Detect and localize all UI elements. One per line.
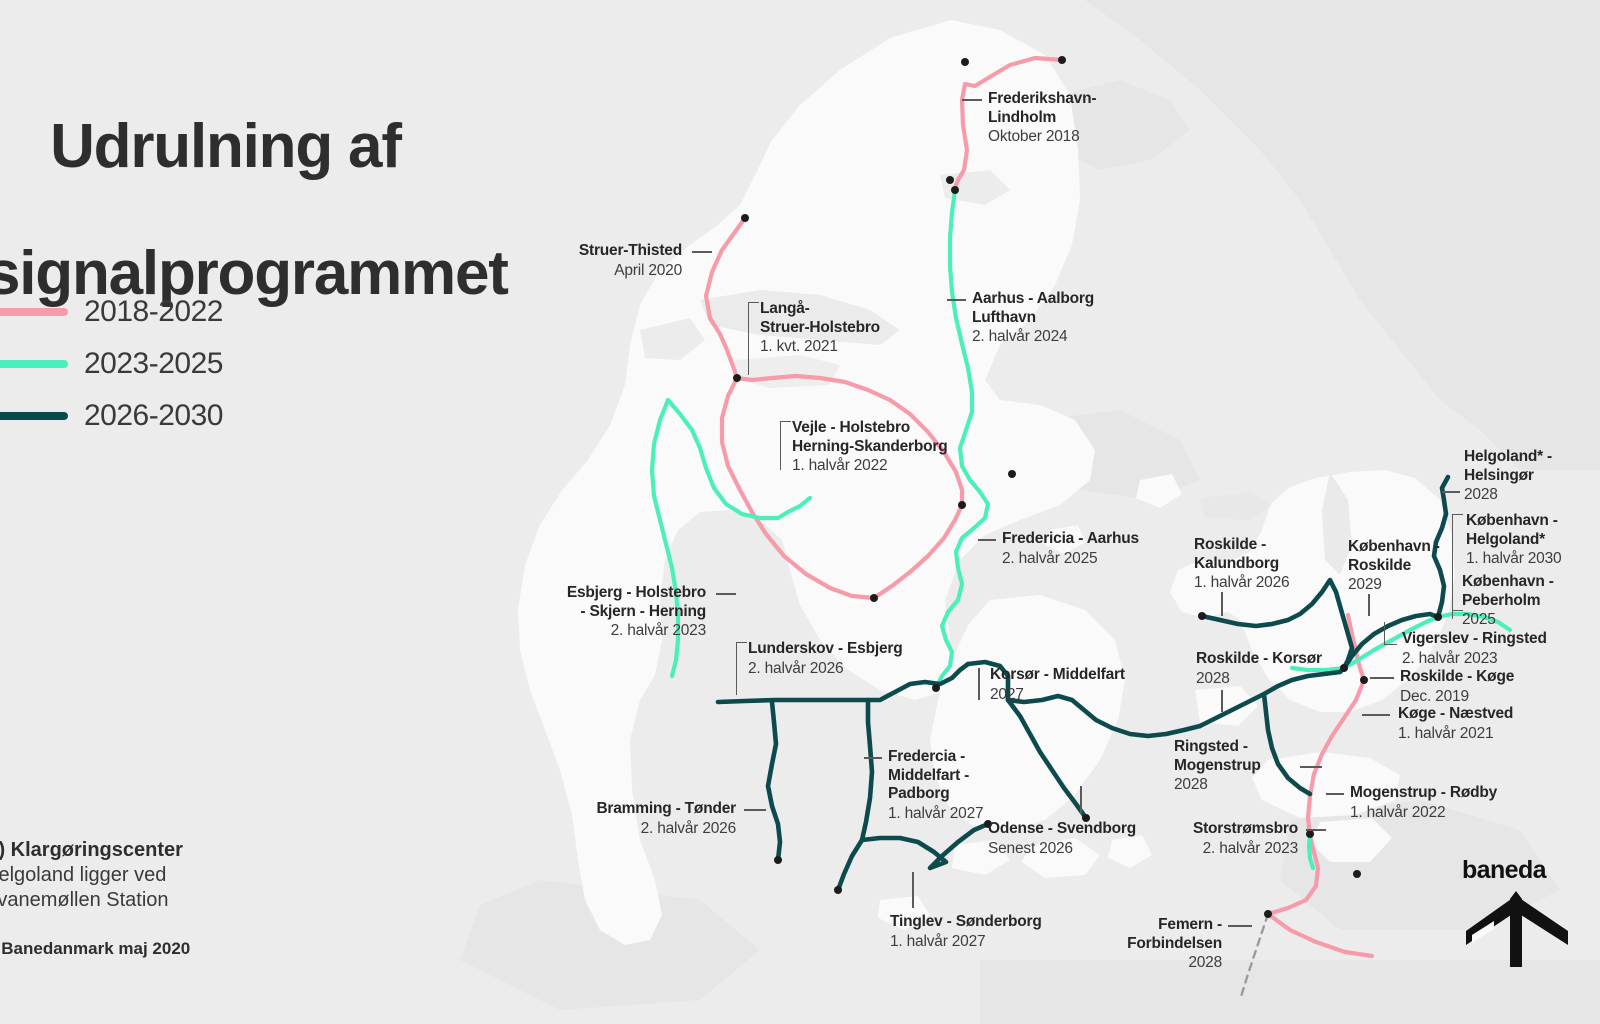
- leader-line: [1306, 829, 1326, 831]
- legend-item-2023-2025[interactable]: 2023-2025: [0, 338, 223, 390]
- callout-date: 2. halvår 2023: [1148, 839, 1298, 858]
- leader-line: [1228, 925, 1252, 927]
- callout-name-2: Lufthavn: [972, 309, 1094, 328]
- leader-line: [1221, 690, 1223, 712]
- footnote-line-1: Helgoland ligger ved: [0, 863, 190, 888]
- logo-wordmark: baneda: [1462, 856, 1584, 885]
- callout-date: 2028: [1092, 953, 1222, 972]
- logo-word-light: da: [1518, 856, 1546, 884]
- callout-name-2: Lindholm: [988, 109, 1096, 128]
- callout-date: 2027: [990, 685, 1125, 704]
- callout-name-2: Helgoland*: [1466, 531, 1561, 550]
- callout-date: 2. halvår 2024: [972, 327, 1094, 346]
- callout-name: Helgoland* -: [1464, 448, 1552, 467]
- callout-koebenhavn-roskilde[interactable]: København - Roskilde 2029: [1348, 538, 1440, 595]
- callout-fredericia-aarhus[interactable]: Fredericia - Aarhus 2. halvår 2025: [1002, 530, 1139, 568]
- callout-name: Fredericia - Aarhus: [1002, 530, 1139, 549]
- leader-line: [1362, 714, 1390, 716]
- callout-name: Vigerslev - Ringsted: [1402, 630, 1547, 649]
- callout-name: Mogenstrup - Rødby: [1350, 784, 1497, 803]
- callout-name: Roskilde - Korsør: [1196, 650, 1322, 669]
- route-fredercia-middelfart-padborg: [862, 700, 872, 840]
- callout-koege-naestved[interactable]: Køge - Næstved 1. halvår 2021: [1398, 705, 1513, 743]
- leader-line: [1326, 793, 1344, 795]
- callout-helgoland-helsingoer[interactable]: Helgoland* - Helsingør 2028: [1464, 448, 1552, 505]
- callout-name: Langå-: [760, 300, 880, 319]
- callout-name-2: Forbindelsen: [1092, 935, 1222, 954]
- leader-bracket: [748, 302, 759, 375]
- callout-name: Tinglev - Sønderborg: [890, 913, 1042, 932]
- callout-name: Bramming - Tønder: [586, 800, 736, 819]
- callout-storstroemsbro[interactable]: Storstrømsbro 2. halvår 2023: [1148, 820, 1298, 858]
- callout-date: 2028: [1174, 775, 1261, 794]
- callout-roskilde-koege[interactable]: Roskilde - Køge Dec. 2019: [1400, 668, 1514, 706]
- leader-line: [912, 872, 914, 908]
- callout-date: 1. halvår 2027: [888, 804, 983, 823]
- callout-name: Struer-Thisted: [572, 242, 682, 261]
- callout-date: 2. halvår 2025: [1002, 549, 1139, 568]
- callout-date: 2. halvår 2026: [748, 659, 902, 678]
- callout-date: Dec. 2019: [1400, 687, 1514, 706]
- callout-date: 1. halvår 2022: [1350, 803, 1497, 822]
- callout-name: Roskilde - Køge: [1400, 668, 1514, 687]
- callout-name: Ringsted -: [1174, 738, 1261, 757]
- callout-date: 2. halvår 2023: [556, 621, 706, 640]
- callout-name: Fredercia -: [888, 748, 983, 767]
- leader-line: [978, 539, 996, 541]
- callout-name: København -: [1462, 573, 1554, 592]
- callout-date: 1. halvår 2030: [1466, 549, 1561, 568]
- callout-ringsted-mogenstrup[interactable]: Ringsted - Mogenstrup 2028: [1174, 738, 1261, 795]
- leader-line: [1080, 786, 1082, 814]
- copyright-text: © Banedanmark maj 2020: [0, 939, 190, 959]
- leader-bracket: [736, 642, 747, 695]
- callout-date: 1. halvår 2022: [792, 456, 948, 475]
- callout-femern-forbindelsen[interactable]: Femern - Forbindelsen 2028: [1092, 916, 1222, 973]
- callout-aarhus-aalborg-lufthavn[interactable]: Aarhus - Aalborg Lufthavn 2. halvår 2024: [972, 290, 1094, 347]
- callout-date: Oktober 2018: [988, 127, 1096, 146]
- callout-roskilde-kalundborg[interactable]: Roskilde - Kalundborg 1. halvår 2026: [1194, 536, 1289, 593]
- callout-fredercia-middelfart-padborg[interactable]: Fredercia - Middelfart - Padborg 1. halv…: [888, 748, 983, 823]
- legend: 2018-2022 2023-2025 2026-2030: [0, 286, 223, 442]
- callout-name: Køge - Næstved: [1398, 705, 1513, 724]
- leader-line: [692, 251, 712, 253]
- legend-label-phase3: 2026-2030: [84, 399, 223, 433]
- callout-bramming-toender[interactable]: Bramming - Tønder 2. halvår 2026: [586, 800, 736, 838]
- callout-date: 2028: [1196, 669, 1322, 688]
- callout-langaa-struer-holstebro[interactable]: Langå- Struer-Holstebro 1. kvt. 2021: [760, 300, 880, 357]
- callout-date: 1. kvt. 2021: [760, 337, 880, 356]
- callout-struer-thisted[interactable]: Struer-Thisted April 2020: [572, 242, 682, 280]
- callout-vejle-holstebro[interactable]: Vejle - Holstebro Herning-Skanderborg 1.…: [792, 419, 948, 476]
- callout-lunderskov-esbjerg[interactable]: Lunderskov - Esbjerg 2. halvår 2026: [748, 640, 902, 678]
- footer-note: (*) Klargøringscenter Helgoland ligger v…: [0, 838, 190, 959]
- callout-name-2: Helsingør: [1464, 467, 1552, 486]
- callout-frederikshavn-lindholm[interactable]: Frederikshavn- Lindholm Oktober 2018: [988, 90, 1096, 147]
- callout-date: Senest 2026: [988, 839, 1136, 858]
- leader-line: [744, 809, 766, 811]
- legend-swatch-phase2: [0, 360, 68, 368]
- legend-item-2026-2030[interactable]: 2026-2030: [0, 390, 223, 442]
- callout-date: 2029: [1348, 575, 1440, 594]
- callout-name-2: Roskilde: [1348, 557, 1440, 576]
- callout-name: Odense - Svendborg: [988, 820, 1136, 839]
- callout-mogenstrup-roedby[interactable]: Mogenstrup - Rødby 1. halvår 2022: [1350, 784, 1497, 822]
- callout-name-2: Struer-Holstebro: [760, 319, 880, 338]
- legend-item-2018-2022[interactable]: 2018-2022: [0, 286, 223, 338]
- callout-name: Roskilde -: [1194, 536, 1289, 555]
- callout-koebenhavn-peberholm[interactable]: København - Peberholm 2025: [1462, 573, 1554, 630]
- callout-name-2: Mogenstrup: [1174, 757, 1261, 776]
- callout-koebenhavn-helgoland[interactable]: København - Helgoland* 1. halvår 2030: [1466, 512, 1561, 569]
- callout-name-3: Padborg: [888, 785, 983, 804]
- leader-line: [1221, 592, 1223, 616]
- callout-name: Vejle - Holstebro: [792, 419, 948, 438]
- infographic-canvas: .land{fill:#FAFAFA;} .land2{fill:#E6E6E6…: [0, 0, 1600, 1024]
- callout-name: Esbjerg - Holstebro: [556, 584, 706, 603]
- callout-date: 2025: [1462, 610, 1554, 629]
- footnote-line-2: Svanemøllen Station: [0, 888, 190, 913]
- leader-line: [1442, 491, 1460, 493]
- legend-swatch-phase1: [0, 308, 68, 316]
- leader-line: [947, 299, 966, 301]
- callout-name-2: Kalundborg: [1194, 555, 1289, 574]
- callout-esbjerg-holstebro[interactable]: Esbjerg - Holstebro - Skjern - Herning 2…: [556, 584, 706, 641]
- leader-line: [1300, 766, 1322, 768]
- callout-name: Frederikshavn-: [988, 90, 1096, 109]
- legend-label-phase2: 2023-2025: [84, 347, 223, 381]
- callout-korsoer-middelfart[interactable]: Korsør - Middelfart 2027: [990, 666, 1125, 704]
- legend-label-phase1: 2018-2022: [84, 295, 223, 329]
- callout-tinglev-soenderborg[interactable]: Tinglev - Sønderborg 1. halvår 2027: [890, 913, 1042, 951]
- legend-swatch-phase3: [0, 412, 68, 420]
- route-tinglev-soenderborg: [838, 840, 862, 890]
- leader-line: [962, 99, 982, 101]
- leader-line: [716, 593, 736, 595]
- leader-bracket: [1452, 610, 1463, 619]
- title-line-1: Udrulning af: [50, 112, 401, 181]
- callout-date: 1. halvår 2021: [1398, 724, 1513, 743]
- callout-name: København -: [1348, 538, 1440, 557]
- callout-date: 1. halvår 2027: [890, 932, 1042, 951]
- callout-date: 2028: [1464, 485, 1552, 504]
- route-bramming-toender: [768, 702, 780, 860]
- callout-roskilde-korsoer[interactable]: Roskilde - Korsør 2028: [1196, 650, 1322, 688]
- callout-name: København -: [1466, 512, 1561, 531]
- callout-name: Storstrømsbro: [1148, 820, 1298, 839]
- leader-bracket: [780, 421, 791, 470]
- leader-line: [1368, 594, 1370, 616]
- callout-date: 1. halvår 2026: [1194, 573, 1289, 592]
- callout-name-2: Middelfart -: [888, 767, 983, 786]
- callout-vigerslev-ringsted[interactable]: Vigerslev - Ringsted 2. halvår 2023: [1402, 630, 1547, 668]
- callout-date: April 2020: [572, 261, 682, 280]
- callout-date: 2. halvår 2023: [1402, 649, 1547, 668]
- callout-date: 2. halvår 2026: [586, 819, 736, 838]
- callout-name-2: Herning-Skanderborg: [792, 438, 948, 457]
- leader-line: [1370, 677, 1394, 679]
- logo-word-dark: bane: [1462, 856, 1518, 884]
- callout-name-2: Peberholm: [1462, 592, 1554, 611]
- callout-name: Femern -: [1092, 916, 1222, 935]
- leader-bracket: [1384, 622, 1397, 645]
- banedanmark-logo: baneda: [1462, 856, 1584, 972]
- footnote-title: (*) Klargøringscenter: [0, 838, 190, 863]
- callout-odense-svendborg[interactable]: Odense - Svendborg Senest 2026: [988, 820, 1136, 858]
- leader-line: [864, 757, 882, 759]
- callout-name: Aarhus - Aalborg: [972, 290, 1094, 309]
- callout-name: Lunderskov - Esbjerg: [748, 640, 902, 659]
- callout-name: Korsør - Middelfart: [990, 666, 1125, 685]
- leader-line: [978, 668, 980, 700]
- logo-mark-icon: [1464, 887, 1584, 967]
- callout-name-2: - Skjern - Herning: [556, 603, 706, 622]
